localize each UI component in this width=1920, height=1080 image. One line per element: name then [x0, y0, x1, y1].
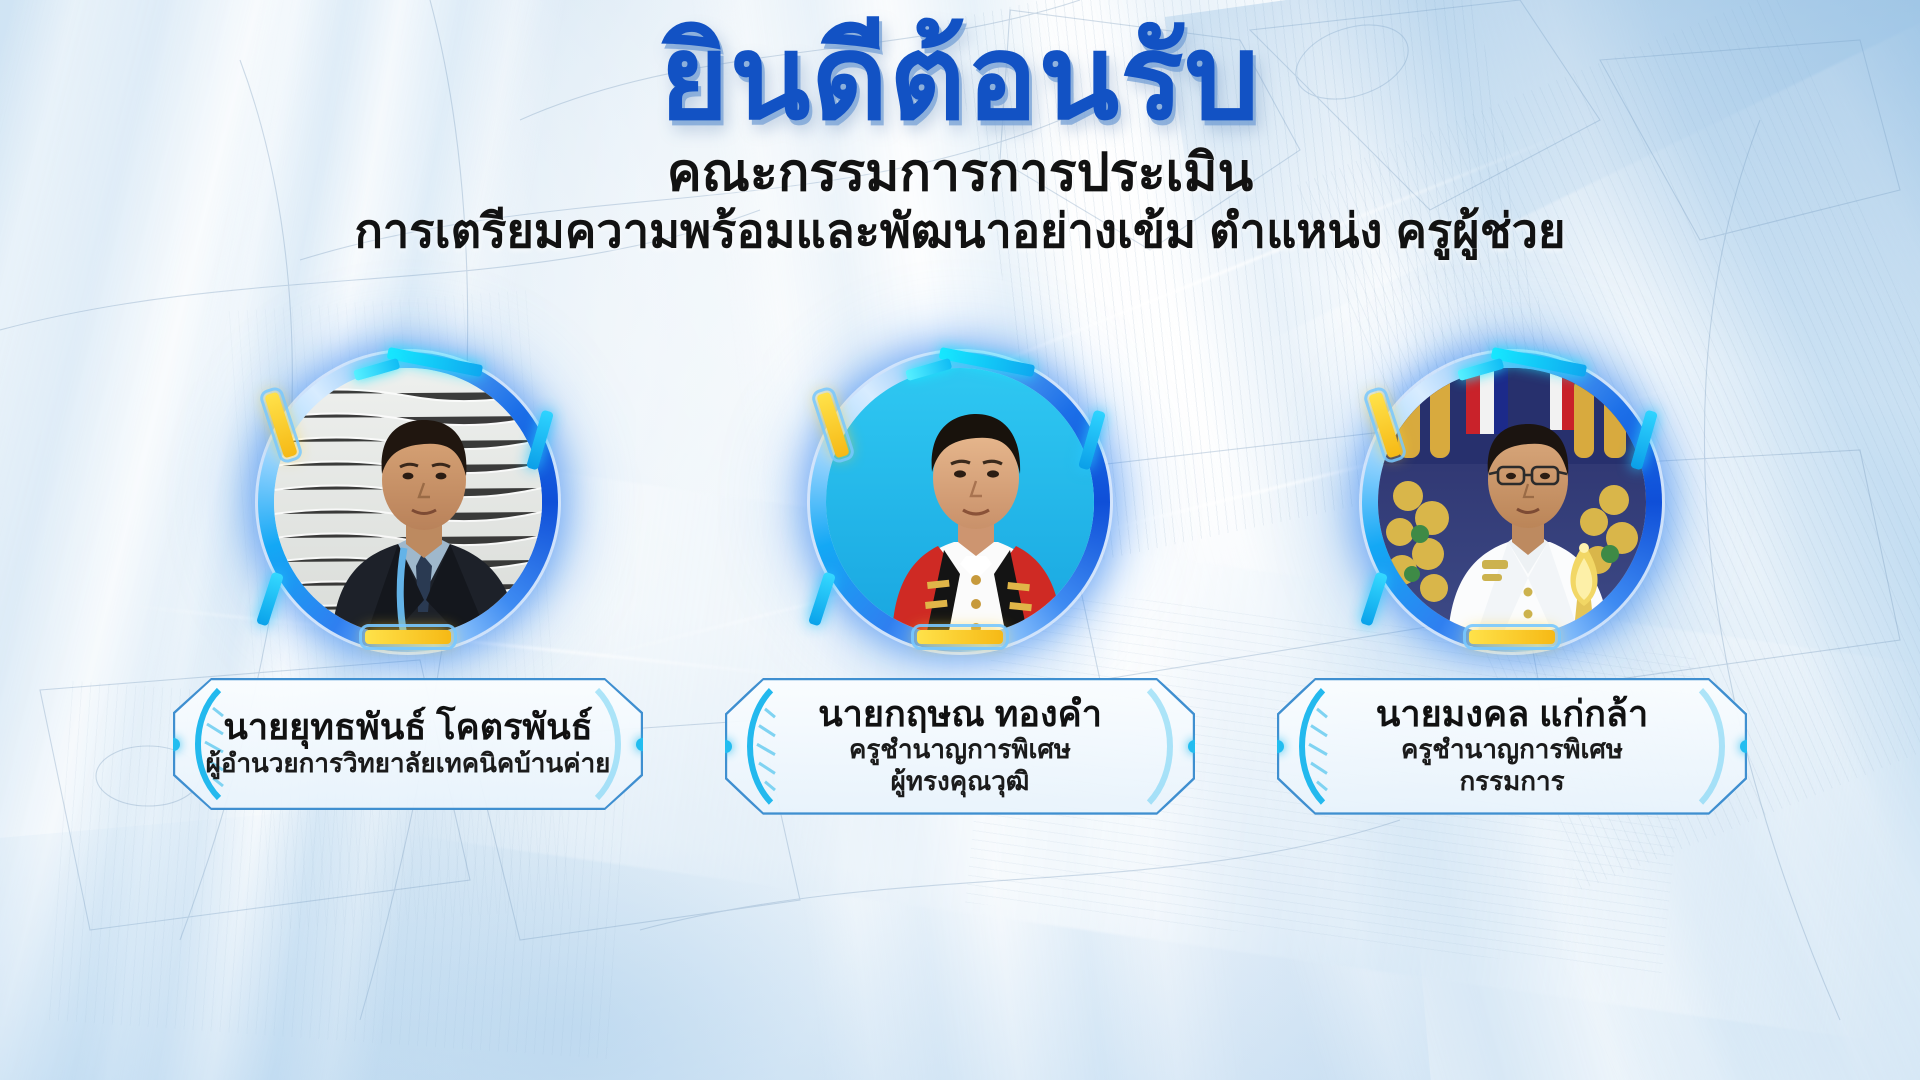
avatar-ring [258, 352, 558, 652]
member-name: นายกฤษณ ทองคำ [818, 694, 1102, 734]
plate-fan-right-icon [591, 686, 637, 802]
portrait-director [274, 368, 542, 636]
committee-member-card: นายยุทธพันธ์ โคตรพันธ์ ผู้อำนวยการวิทยาล… [168, 352, 648, 810]
member-role-line-1: ครูชำนาญการพิเศษ [849, 734, 1071, 765]
name-plate: นายมงคล แก่กล้า ครูชำนาญการพิเศษ กรรมการ [1277, 678, 1747, 815]
member-role-line-1: ครูชำนาญการพิเศษ [1401, 734, 1623, 765]
plate-fan-right-icon [1143, 686, 1189, 807]
plate-dot-icon [1271, 740, 1284, 753]
plate-fan-left-icon [1283, 686, 1329, 807]
plate-fan-right-icon [1695, 686, 1741, 807]
ring-accent-cyan-icon [256, 571, 284, 626]
name-plate: นายกฤษณ ทองคำ ครูชำนาญการพิเศษ ผู้ทรงคุณ… [725, 678, 1195, 815]
plate-fan-left-icon [731, 686, 777, 807]
plate-dot-icon [167, 738, 180, 751]
member-role-line-2: ผู้ทรงคุณวุฒิ [891, 766, 1030, 797]
welcome-banner: ยินดีต้อนรับ คณะกรรมการการประเมิน การเตร… [0, 0, 1920, 1080]
plate-fan-left-icon [179, 686, 225, 802]
header-block: ยินดีต้อนรับ คณะกรรมการการประเมิน การเตร… [0, 18, 1920, 257]
ring-accent-cyan-icon [1360, 571, 1388, 626]
avatar [826, 368, 1094, 636]
name-plate: นายยุทธพันธ์ โคตรพันธ์ ผู้อำนวยการวิทยาล… [173, 678, 643, 810]
subtitle-line-2: การเตรียมความพร้อมและพัฒนาอย่างเข้ม ตำแห… [0, 205, 1920, 258]
page-title: ยินดีต้อนรับ [0, 18, 1920, 138]
committee-member-card: นายมงคล แก่กล้า ครูชำนาญการพิเศษ กรรมการ [1272, 352, 1752, 815]
plate-dot-icon [1740, 740, 1753, 753]
committee-member-list: นายยุทธพันธ์ โคตรพันธ์ ผู้อำนวยการวิทยาล… [0, 352, 1920, 952]
plate-top-decoration-icon [243, 665, 573, 681]
member-name: นายยุทธพันธ์ โคตรพันธ์ [223, 707, 592, 747]
avatar [274, 368, 542, 636]
plate-top-decoration-icon [1347, 665, 1677, 681]
plate-dot-icon [1188, 740, 1201, 753]
portrait-ceremony [1378, 368, 1646, 636]
avatar [1378, 368, 1646, 636]
plate-dot-icon [719, 740, 732, 753]
portrait-academic [826, 368, 1094, 636]
member-role-line-2: กรรมการ [1459, 766, 1564, 797]
member-role-line-1: ผู้อำนวยการวิทยาลัยเทคนิคบ้านค่าย [206, 748, 611, 779]
ring-accent-cyan-icon [808, 571, 836, 626]
subtitle-line-1: คณะกรรมการการประเมิน [0, 144, 1920, 202]
plate-top-decoration-icon [795, 665, 1125, 681]
plate-dot-icon [636, 738, 649, 751]
avatar-ring [1362, 352, 1662, 652]
committee-member-card: นายกฤษณ ทองคำ ครูชำนาญการพิเศษ ผู้ทรงคุณ… [720, 352, 1200, 815]
member-name: นายมงคล แก่กล้า [1376, 694, 1648, 734]
avatar-ring [810, 352, 1110, 652]
